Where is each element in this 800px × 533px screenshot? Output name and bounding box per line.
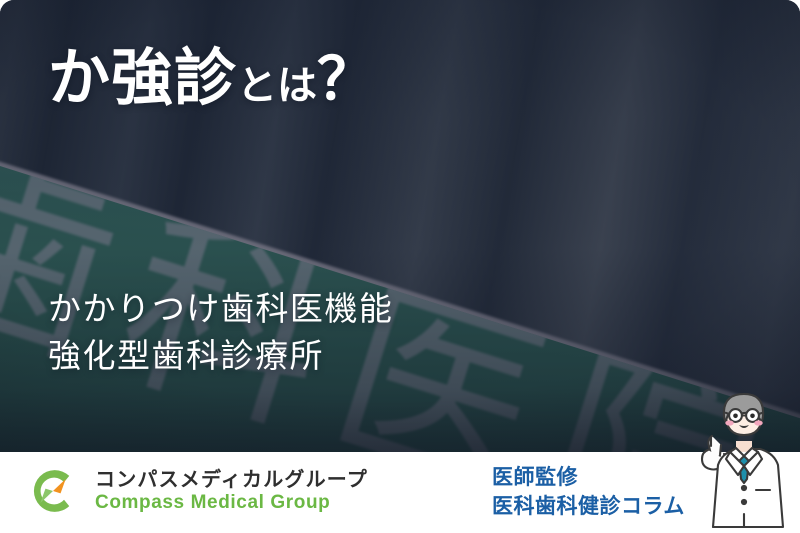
column-label-line-1: 医師監修 [492,464,685,493]
column-label: 医師監修 医科歯科健診コラム [492,464,685,521]
brand-name-en: Compass Medical Group [95,493,368,514]
hero-photo-area: 歯科医院 か強診とは？ かかりつけ歯科医機能 強化型歯科診療所 [0,0,800,452]
title-emphasis: か強診 [48,44,237,113]
brand-logo[interactable]: コンパスメディカルグループ Compass Medical Group [24,462,368,520]
title-connector: とは [237,64,317,108]
subtitle-line-1: かかりつけ歯科医機能 [48,286,393,333]
brand-name-ja: コンパスメディカルグループ [95,469,368,491]
doctor-pointing-illustration-icon [690,392,798,533]
page-subtitle: かかりつけ歯科医機能 強化型歯科診療所 [48,286,393,380]
article-thumbnail-card: 歯科医院 か強診とは？ かかりつけ歯科医機能 強化型歯科診療所 コンパスメディカ… [0,0,800,533]
page-title: か強診とは？ [48,48,376,110]
title-question-mark: ？ [317,47,376,112]
footer-bar: コンパスメディカルグループ Compass Medical Group 医師監修… [0,452,800,533]
column-label-line-2: 医科歯科健診コラム [492,493,685,522]
subtitle-line-2: 強化型歯科診療所 [48,333,393,380]
compass-c-mark-icon [24,462,82,520]
brand-wordmark: コンパスメディカルグループ Compass Medical Group [95,469,368,514]
hero-text-block: か強診とは？ かかりつけ歯科医機能 強化型歯科診療所 [48,0,768,452]
